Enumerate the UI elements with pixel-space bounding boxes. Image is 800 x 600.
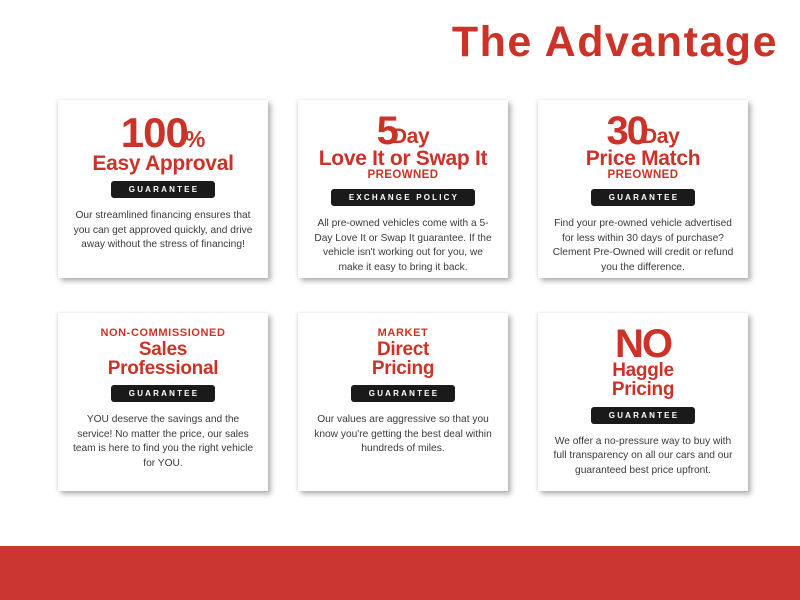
headline-subtitle: PREOWNED [608,169,679,182]
card-headline: NO Haggle Pricing [612,327,674,400]
headline-mega-word: NO [615,327,671,361]
headline-number: 30 [606,114,647,148]
headline-title-line1: Haggle [612,361,674,380]
headline-title: Price Match [586,148,701,169]
card-body-text: All pre-owned vehicles come with a 5-Day… [307,217,499,275]
headline-number-row: 100% [121,114,206,153]
card-headline: NON-COMMISSIONED Sales Professional [100,327,225,378]
advantage-card-no-haggle-pricing[interactable]: NO Haggle Pricing GUARANTEE We offer a n… [538,313,748,491]
headline-title: Easy Approval [92,153,233,174]
card-body-text: We offer a no-pressure way to buy with f… [547,435,739,478]
advantage-slide: The Advantage 100% Easy Approval GUARANT… [0,0,800,600]
status-badge: GUARANTEE [591,189,695,206]
headline-title: Love It or Swap It [319,148,487,169]
status-badge: GUARANTEE [111,181,215,198]
slide-header: The Advantage [0,8,800,76]
headline-subtitle: PREOWNED [368,169,439,182]
card-body-text: YOU deserve the savings and the service!… [67,413,259,471]
advantage-card-sales-professional[interactable]: NON-COMMISSIONED Sales Professional GUAR… [58,313,268,491]
footer-accent-bar [0,546,800,600]
headline-percent-symbol: % [185,126,205,152]
advantage-card-grid: 100% Easy Approval GUARANTEE Our streaml… [58,100,748,491]
card-headline: 100% Easy Approval [92,114,233,174]
headline-number: 100 [121,114,188,153]
headline-number-row: 5Day [377,114,430,148]
status-badge: EXCHANGE POLICY [331,189,475,206]
headline-number-suffix: Day [392,126,430,148]
headline-title-line1: Sales [139,340,187,359]
headline-title-line2: Professional [108,359,218,378]
card-body-text: Our streamlined financing ensures that y… [67,209,259,252]
headline-title-line2: Pricing [372,359,434,378]
page-title: The Advantage [452,21,778,64]
card-body-text: Find your pre-owned vehicle advertised f… [547,217,739,275]
advantage-card-easy-approval[interactable]: 100% Easy Approval GUARANTEE Our streaml… [58,100,268,278]
headline-title-line1: Direct [377,340,429,359]
card-body-text: Our values are aggressive so that you kn… [307,413,499,456]
advantage-card-direct-pricing[interactable]: MARKET Direct Pricing GUARANTEE Our valu… [298,313,508,491]
status-badge: GUARANTEE [351,385,455,402]
headline-title-line2: Pricing [612,380,674,399]
headline-eyebrow: NON-COMMISSIONED [100,327,225,340]
advantage-card-love-it-or-swap-it[interactable]: 5Day Love It or Swap It PREOWNED EXCHANG… [298,100,508,278]
advantage-card-price-match[interactable]: 30Day Price Match PREOWNED GUARANTEE Fin… [538,100,748,278]
card-headline: 5Day Love It or Swap It PREOWNED [319,114,487,182]
card-headline: MARKET Direct Pricing [372,327,434,378]
headline-eyebrow: MARKET [378,327,429,340]
status-badge: GUARANTEE [111,385,215,402]
card-headline: 30Day Price Match PREOWNED [586,114,701,182]
headline-number-row: 30Day [606,114,679,148]
status-badge: GUARANTEE [591,407,695,424]
headline-number-suffix: Day [642,126,680,148]
